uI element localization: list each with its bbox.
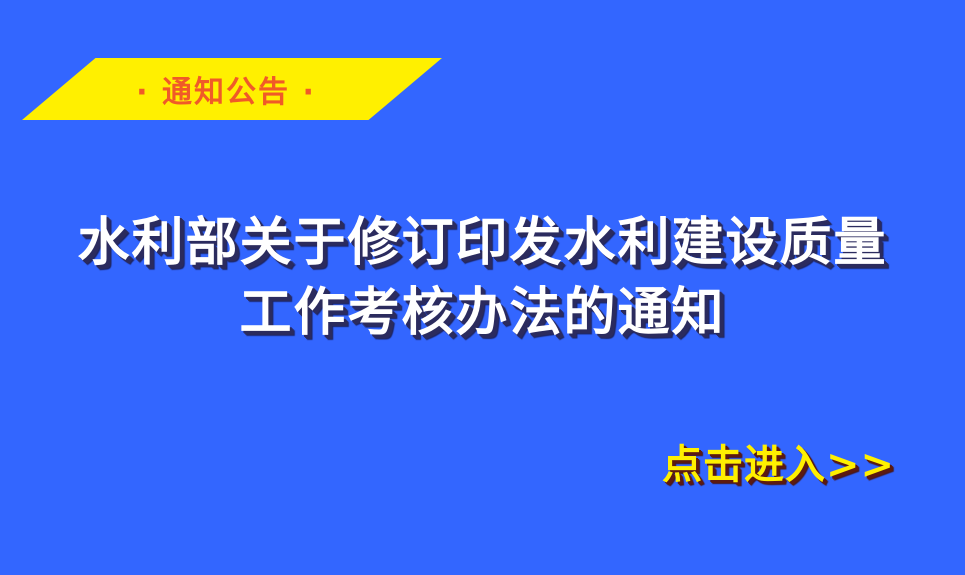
page-title-line-1: 水利部关于修订印发水利建设质量 <box>0 208 965 278</box>
announcement-poster: · 通知公告 · 水利部关于修订印发水利建设质量 工作考核办法的通知 点击进入>… <box>0 0 965 575</box>
ribbon-label: · 通知公告 · <box>16 58 436 120</box>
page-title-line-2: 工作考核办法的通知 <box>0 278 965 348</box>
enter-link[interactable]: 点击进入>> <box>662 432 895 490</box>
page-title: 水利部关于修订印发水利建设质量 工作考核办法的通知 <box>0 208 965 348</box>
notice-ribbon-banner: · 通知公告 · <box>22 58 442 120</box>
